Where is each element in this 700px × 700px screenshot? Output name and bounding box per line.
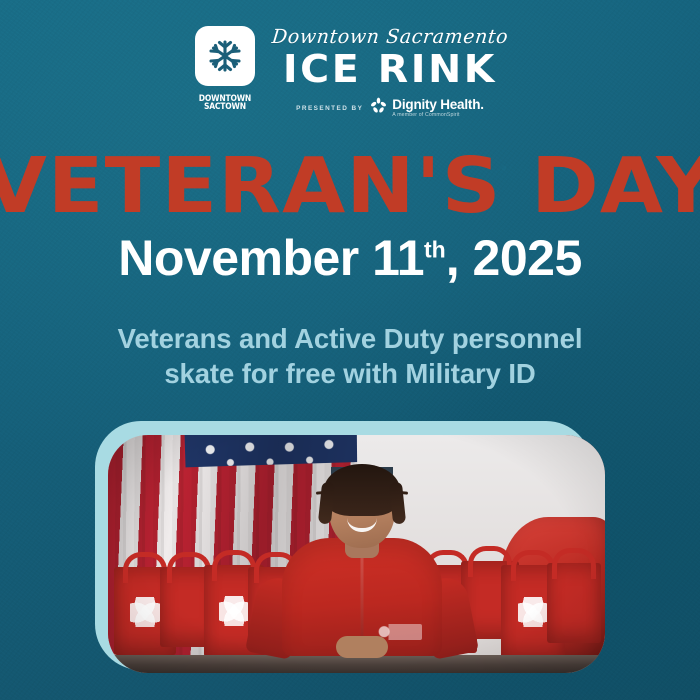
volunteer-person — [282, 471, 442, 656]
dignity-health-flower-icon — [370, 97, 387, 119]
sac-wordmark-line2: SACTOWN — [204, 102, 246, 110]
downtown-sacramento-script: Downtown Sacramento — [271, 28, 509, 47]
event-description-line1: Veterans and Active Duty personnel — [0, 322, 700, 357]
sponsor-text: Dignity Health. A member of CommonSpirit — [392, 98, 484, 119]
event-date-monthday: November 11 — [118, 230, 424, 286]
photo-content — [108, 435, 605, 673]
logo-mark-column: DOWNTOWN SACTOWN — [192, 26, 258, 112]
presented-by-label: PRESENTED BY — [296, 105, 363, 112]
event-photo — [108, 435, 605, 673]
brand-lockup: DOWNTOWN SACTOWN Downtown Sacramento ICE… — [0, 26, 700, 119]
presented-by-row: PRESENTED BY — [296, 97, 484, 119]
event-description-line2: skate for free with Military ID — [0, 357, 700, 392]
event-date-year: , 2025 — [446, 230, 582, 286]
event-date: November 11th, 2025 — [0, 233, 700, 283]
brand-text-column: Downtown Sacramento ICE RINK PRESENTED B… — [272, 26, 508, 119]
sponsor-name: Dignity Health. — [392, 98, 484, 112]
ice-rink-wordmark: ICE RINK — [283, 50, 497, 88]
snowflake-logo-tile — [195, 26, 255, 86]
snowflake-icon — [204, 35, 246, 77]
person-hair — [324, 464, 400, 516]
poster-canvas: DOWNTOWN SACTOWN Downtown Sacramento ICE… — [0, 0, 700, 700]
event-description: Veterans and Active Duty personnel skate… — [0, 322, 700, 391]
person-hands — [336, 636, 388, 658]
photo-block — [95, 421, 605, 673]
sponsor-tagline: A member of CommonSpirit — [392, 113, 484, 118]
jacket-chest-logo — [378, 624, 422, 640]
page-title: VETERAN'S DAY — [0, 148, 700, 225]
event-date-ordinal: th — [424, 236, 446, 262]
tote-bag — [547, 563, 601, 643]
sponsor-lockup: Dignity Health. A member of CommonSpirit — [370, 97, 484, 119]
downtown-sactown-wordmark: DOWNTOWN SACTOWN — [202, 91, 248, 114]
